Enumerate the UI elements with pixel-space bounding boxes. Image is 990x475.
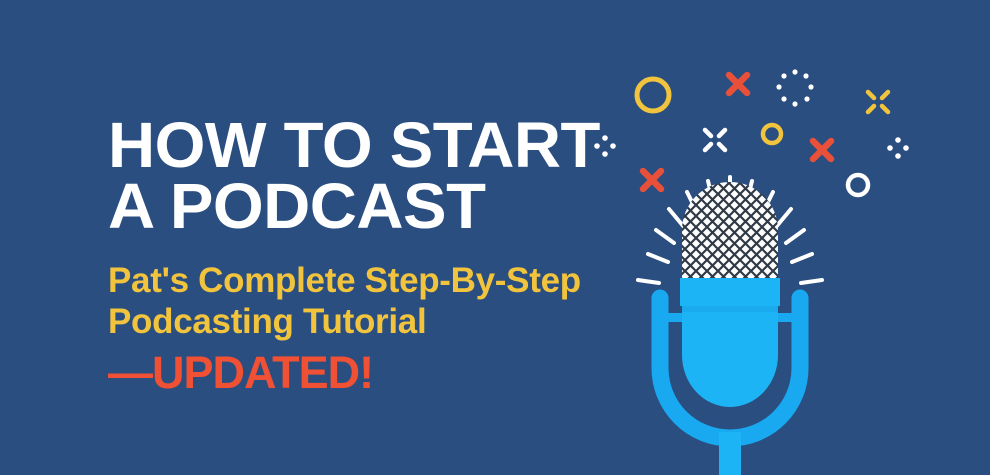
subtitle-line1: Pat's Complete Step-By-Step xyxy=(108,260,668,301)
yellow-ring-icon xyxy=(637,79,669,111)
mic-stand-post xyxy=(719,432,741,475)
headline-block: HOW TO START A PODCAST Pat's Complete St… xyxy=(108,116,668,395)
podcast-banner: HOW TO START A PODCAST Pat's Complete St… xyxy=(0,0,990,475)
red-cross-icon-top xyxy=(729,75,747,93)
mic-collar xyxy=(680,278,780,306)
dotted-ring-icon xyxy=(776,69,813,106)
yellow-sparkle-icon xyxy=(868,92,888,112)
mic-mesh-head xyxy=(682,182,778,280)
yellow-ring-small-icon xyxy=(763,125,781,143)
mic-collar-shadow xyxy=(682,306,778,312)
page-title-line1: HOW TO START xyxy=(108,116,679,175)
subtitle-line2: Podcasting Tutorial xyxy=(108,301,668,342)
white-sparkle-icon xyxy=(705,130,725,150)
dot-cluster-icon-right xyxy=(887,137,909,159)
page-title-line2: A PODCAST xyxy=(108,177,679,236)
updated-badge: —UPDATED! xyxy=(108,350,668,395)
